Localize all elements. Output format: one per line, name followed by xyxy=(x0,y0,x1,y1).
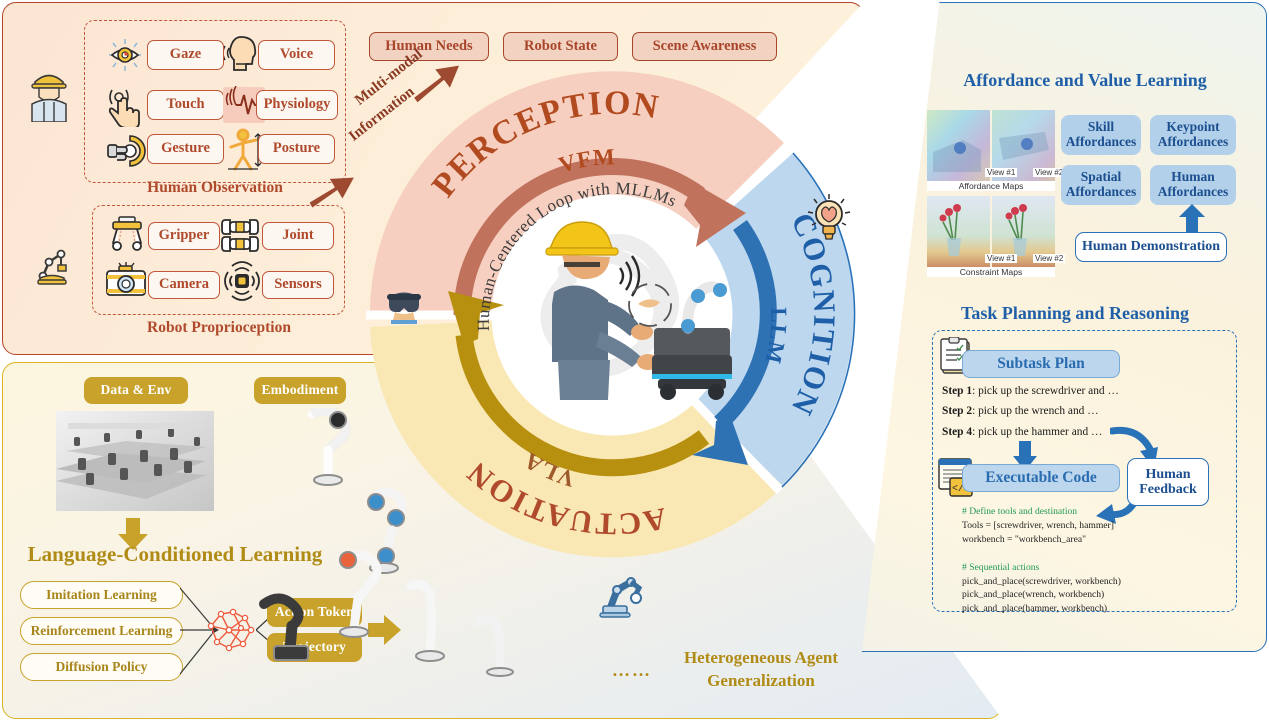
subtask-step-text: : pick up the hammer and … xyxy=(972,426,1102,438)
code-line: # Sequential actions xyxy=(962,561,1202,575)
simulation-environment-thumbnail xyxy=(56,411,214,511)
proprioception-item-joint[interactable]: Joint xyxy=(262,222,334,250)
actuation-method-reinforcement-learning[interactable]: Reinforcement Learning xyxy=(20,617,183,645)
robot-arm-icon xyxy=(32,240,78,286)
eye-icon xyxy=(105,35,145,75)
camera-icon xyxy=(104,262,148,302)
executable-code-block: # Define tools and destinationTools = [s… xyxy=(962,505,1202,616)
generalization-label-line2: Generalization xyxy=(661,671,861,691)
affordance-tag-spatial[interactable]: Spatial Affordances xyxy=(1061,165,1141,205)
affordance-tag-skill[interactable]: Skill Affordances xyxy=(1061,115,1141,155)
proprioception-item-sensors-label: Sensors xyxy=(274,277,322,293)
perception-item-voice[interactable]: Voice xyxy=(258,40,335,70)
actuation-tag-embodiment[interactable]: Embodiment xyxy=(254,377,346,404)
affordance-view1-label: View #1 xyxy=(985,168,1017,177)
vr-headset-icon xyxy=(383,283,425,325)
subtask-step-name: Step 4 xyxy=(942,426,972,438)
demonstration-up-arrow-icon xyxy=(1178,204,1206,232)
actuation-robot-arm-icon xyxy=(597,570,649,620)
proprioception-item-camera[interactable]: Camera xyxy=(148,271,220,299)
subtask-step-name: Step 1 xyxy=(942,385,972,397)
human-demonstration-button[interactable]: Human Demonstration xyxy=(1075,232,1227,262)
human-centered-loop-wheel: PERCEPTION COGNITION ACTUATION VFM LLM V… xyxy=(352,55,872,575)
code-line: workbench = "workbench_area" xyxy=(962,533,1202,547)
proprioception-item-camera-label: Camera xyxy=(159,277,209,293)
perception-item-touch-label: Touch xyxy=(166,97,204,113)
executable-code-header[interactable]: Executable Code xyxy=(962,464,1120,492)
human-observation-caption: Human Observation xyxy=(84,179,346,197)
worker-icon xyxy=(26,62,72,122)
subtask-plan-header[interactable]: Subtask Plan xyxy=(962,350,1120,378)
perception-item-gaze[interactable]: Gaze xyxy=(147,40,224,70)
robot-proprioception-caption: Robot Proprioception xyxy=(88,319,350,337)
code-line: pick_and_place(hammer, workbench) xyxy=(962,602,1202,616)
actuation-method-imitation-learning[interactable]: Imitation Learning xyxy=(20,581,183,609)
idea-brain-bulb-icon xyxy=(806,192,852,242)
observation-to-wheel-arrow-icon xyxy=(310,168,356,214)
perception-item-physiology-label: Physiology xyxy=(264,97,331,113)
perception-item-physiology[interactable]: Physiology xyxy=(256,90,338,120)
actuation-method-diffusion-policy[interactable]: Diffusion Policy xyxy=(20,653,183,681)
perception-item-posture-label: Posture xyxy=(273,141,320,157)
perception-item-gaze-label: Gaze xyxy=(170,47,201,63)
sensor-signal-icon xyxy=(221,258,263,302)
actuation-tag-data-env[interactable]: Data & Env xyxy=(84,377,188,404)
generalization-label-line1: Heterogeneous Agent xyxy=(661,648,861,668)
affordance-tag-keypoint[interactable]: Keypoint Affordances xyxy=(1150,115,1236,155)
touch-hand-icon xyxy=(104,85,146,127)
gesture-gear-icon xyxy=(104,130,148,172)
code-line: # Define tools and destination xyxy=(962,505,1202,519)
code-line: pick_and_place(wrench, workbench) xyxy=(962,588,1202,602)
perception-item-voice-label: Voice xyxy=(280,47,313,63)
subtask-step: Step 2: pick up the wrench and … xyxy=(942,401,1172,421)
perception-item-posture[interactable]: Posture xyxy=(258,134,335,164)
embodiment-ellipsis: …… xyxy=(612,660,652,681)
constraint-maps-caption: Constraint Maps xyxy=(927,267,1055,277)
subtask-step-text: : pick up the wrench and … xyxy=(972,405,1099,417)
code-line: Tools = [screwdriver, wrench, hammer] xyxy=(962,519,1202,533)
human-feedback-button[interactable]: Human Feedback xyxy=(1127,458,1209,506)
code-line xyxy=(962,547,1202,561)
perception-item-gesture-label: Gesture xyxy=(161,141,210,157)
affordance-section-title: Affordance and Value Learning xyxy=(900,70,1269,91)
subtask-step-name: Step 2 xyxy=(942,405,972,417)
affordance-tag-human[interactable]: Human Affordances xyxy=(1150,165,1236,205)
constraint-view2-label: View #2 xyxy=(1033,254,1065,263)
proprioception-item-sensors[interactable]: Sensors xyxy=(262,271,334,299)
subtask-step-text: : pick up the screwdriver and … xyxy=(972,385,1119,397)
affordance-maps-caption: Affordance Maps xyxy=(927,181,1055,191)
task-planning-title: Task Planning and Reasoning xyxy=(905,303,1245,324)
joint-icon xyxy=(220,217,260,255)
gripper-icon xyxy=(106,215,148,257)
code-line: pick_and_place(screwdriver, workbench) xyxy=(962,575,1202,589)
proprioception-item-gripper-label: Gripper xyxy=(159,228,210,244)
constraint-view1-label: View #1 xyxy=(985,254,1017,263)
proprioception-item-gripper[interactable]: Gripper xyxy=(148,222,220,250)
subtask-step: Step 1: pick up the screwdriver and … xyxy=(942,381,1172,401)
proprioception-item-joint-label: Joint xyxy=(282,228,313,244)
figure-canvas: Gaze Voice Touch Physiology xyxy=(0,0,1269,721)
perception-item-gesture[interactable]: Gesture xyxy=(147,134,224,164)
human-robot-collaboration-illustration xyxy=(502,200,732,400)
perception-item-touch[interactable]: Touch xyxy=(147,90,224,120)
